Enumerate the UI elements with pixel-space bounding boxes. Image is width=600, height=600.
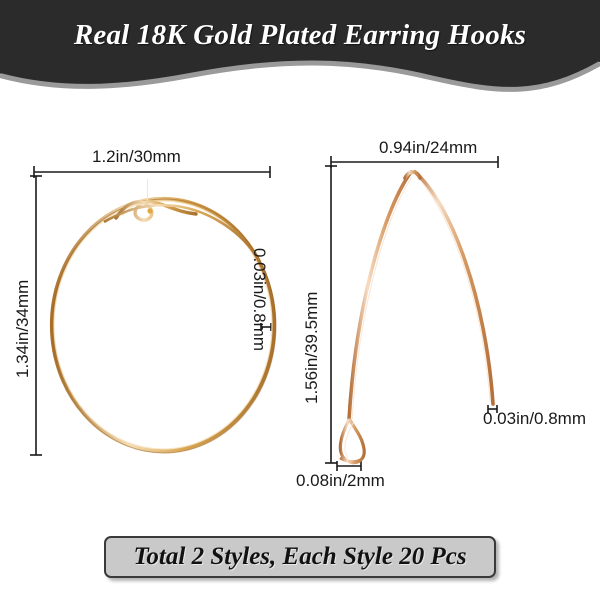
- hoop-earring-art: [52, 178, 276, 453]
- v-hook-height-label: 1.56in/39.5mm: [303, 292, 320, 404]
- hoop-wire-tail: [104, 205, 258, 258]
- hoop-knot-node: [147, 208, 152, 213]
- hoop-wire-thickness-label: 0.03in/0.8mm: [251, 248, 268, 351]
- v-hook-wire-thickness-label: 0.03in/0.8mm: [483, 410, 586, 427]
- v-hook-right-leg: [415, 172, 493, 404]
- v-hook-apex: [405, 172, 420, 178]
- hoop-ring-highlight: [54, 201, 272, 449]
- product-illustrations: [0, 0, 600, 600]
- v-hook-right-leg-highlight: [416, 176, 490, 402]
- v-hook-bottom-loop: [340, 420, 364, 463]
- v-hook-loop-size-label: 0.08in/2mm: [296, 472, 385, 489]
- v-hook-left-leg-highlight: [352, 177, 412, 420]
- hoop-height-label: 1.34in/34mm: [14, 280, 31, 378]
- quantity-badge-text: Total 2 Styles, Each Style 20 Pcs: [133, 543, 466, 571]
- v-hook-width-label: 0.94in/24mm: [379, 139, 477, 156]
- v-hook-left-leg: [349, 172, 411, 420]
- product-infographic: Real 18K Gold Plated Earring Hooks: [0, 0, 600, 600]
- hoop-width-label: 1.2in/30mm: [92, 148, 181, 165]
- quantity-badge: Total 2 Styles, Each Style 20 Pcs: [104, 536, 496, 578]
- v-hook-art: [340, 172, 493, 463]
